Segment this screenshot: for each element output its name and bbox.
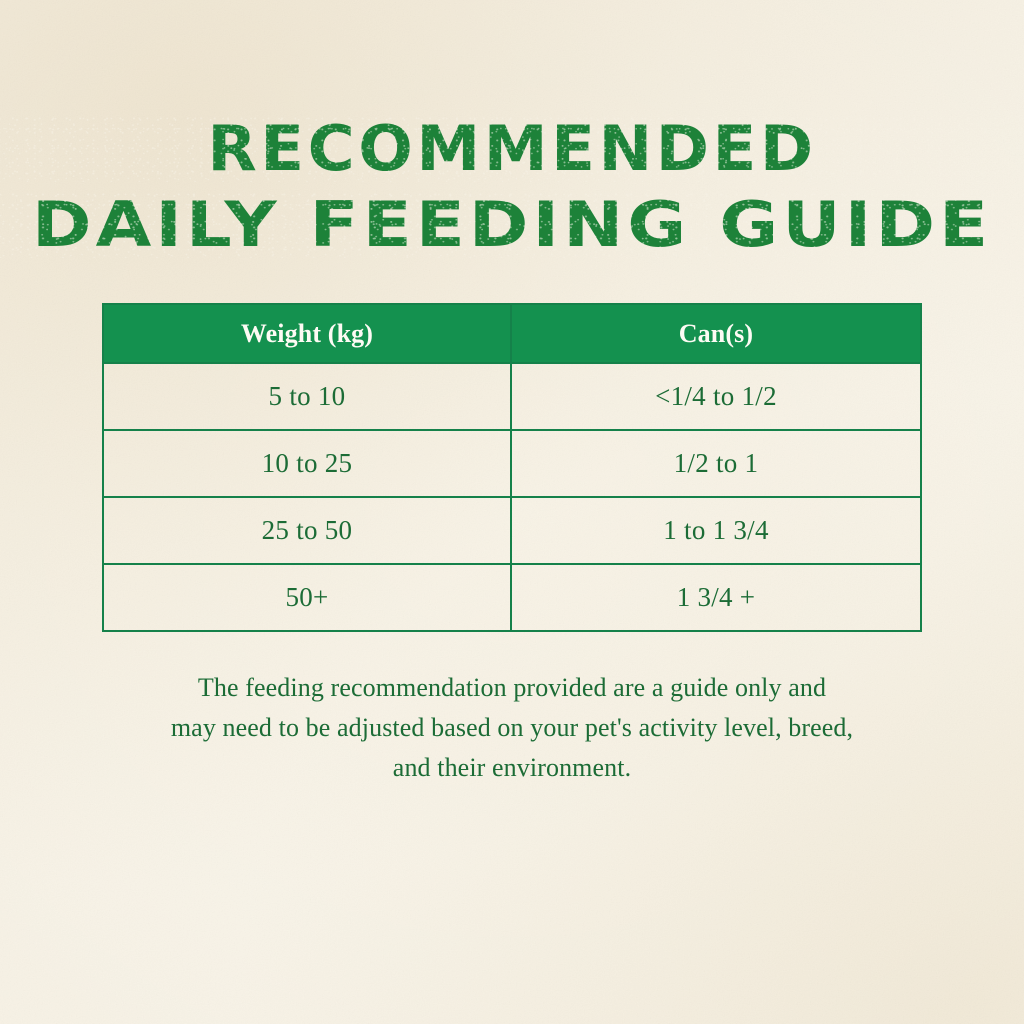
cell-weight: 50+ [103,564,511,631]
page-title: Recommended Daily Feeding Guide [0,118,1024,256]
table-row: 10 to 25 1/2 to 1 [103,430,921,497]
page-title-line-2: Daily Feeding Guide [0,194,1024,256]
cell-cans: 1 3/4 + [511,564,921,631]
column-header-cans: Can(s) [511,304,921,363]
feeding-disclaimer: The feeding recommendation provided are … [112,668,912,788]
cell-weight: 25 to 50 [103,497,511,564]
disclaimer-line-1: The feeding recommendation provided are … [112,668,912,708]
cell-cans: 1 to 1 3/4 [511,497,921,564]
column-header-weight: Weight (kg) [103,304,511,363]
table-row: 5 to 10 <1/4 to 1/2 [103,363,921,430]
disclaimer-line-3: and their environment. [112,748,912,788]
table-row: 25 to 50 1 to 1 3/4 [103,497,921,564]
table-row: 50+ 1 3/4 + [103,564,921,631]
cell-weight: 5 to 10 [103,363,511,430]
cell-weight: 10 to 25 [103,430,511,497]
cell-cans: <1/4 to 1/2 [511,363,921,430]
page-title-line-1: Recommended [0,118,1024,180]
cell-cans: 1/2 to 1 [511,430,921,497]
table-header-row: Weight (kg) Can(s) [103,304,921,363]
feeding-guide-table: Weight (kg) Can(s) 5 to 10 <1/4 to 1/2 1… [102,303,922,632]
disclaimer-line-2: may need to be adjusted based on your pe… [112,708,912,748]
